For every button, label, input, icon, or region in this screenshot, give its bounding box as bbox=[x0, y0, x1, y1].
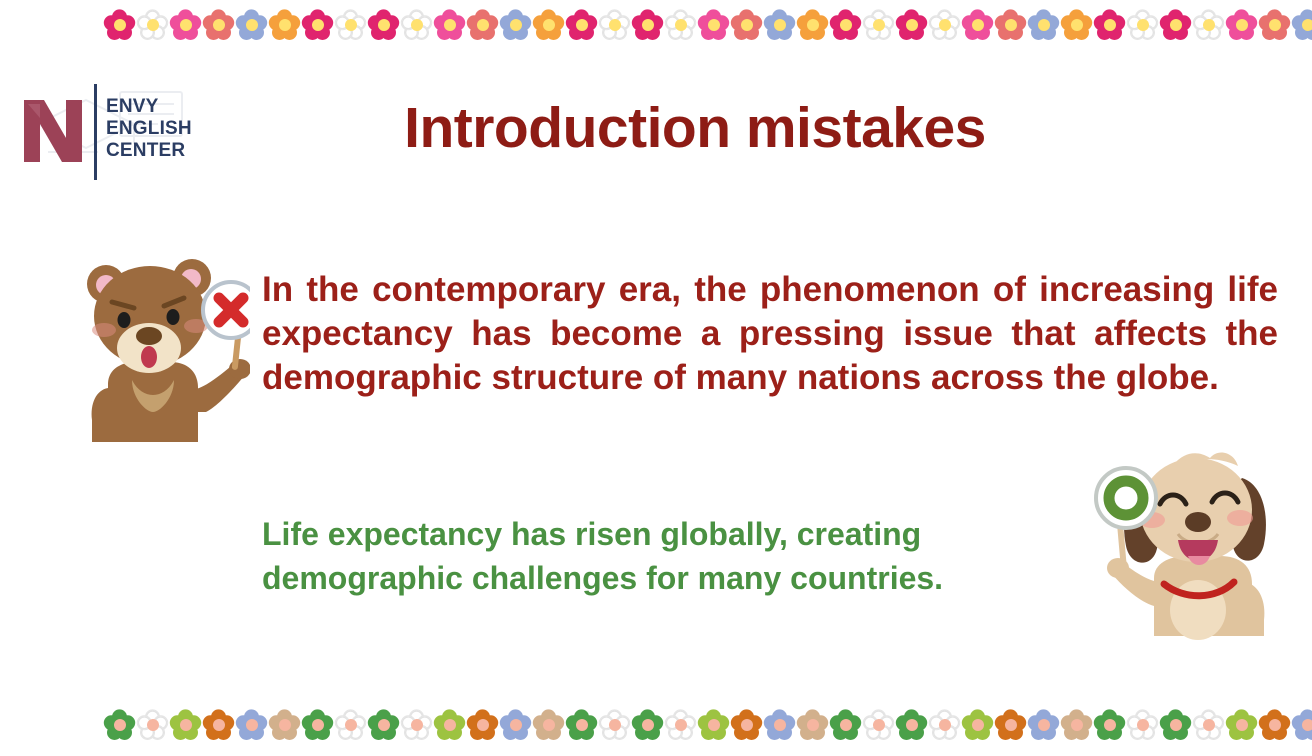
flower-icon bbox=[599, 10, 630, 41]
flower-icon bbox=[797, 710, 828, 741]
flower-center bbox=[180, 719, 192, 731]
flower-center bbox=[774, 19, 786, 31]
flower-icon bbox=[1292, 710, 1312, 741]
flower-center bbox=[1005, 719, 1017, 731]
flower-icon bbox=[302, 710, 333, 741]
logo-envy-english-center: ENVY ENGLISH CENTER bbox=[22, 84, 200, 180]
flower-center bbox=[1302, 19, 1312, 31]
flower-center bbox=[972, 19, 984, 31]
flower-icon bbox=[797, 10, 828, 41]
flower-icon bbox=[104, 710, 135, 741]
flower-icon bbox=[764, 10, 795, 41]
flower-icon bbox=[335, 710, 366, 741]
logo-text: ENVY ENGLISH CENTER bbox=[106, 96, 192, 162]
flower-icon bbox=[104, 10, 135, 41]
flower-center bbox=[477, 719, 489, 731]
flower-center bbox=[939, 719, 951, 731]
flower-icon bbox=[533, 10, 564, 41]
flower-center bbox=[510, 19, 522, 31]
flower-icon bbox=[269, 710, 300, 741]
flower-icon bbox=[632, 10, 663, 41]
flower-center bbox=[213, 19, 225, 31]
flower-icon bbox=[170, 10, 201, 41]
flower-icon bbox=[995, 710, 1026, 741]
flower-center bbox=[906, 719, 918, 731]
flower-icon bbox=[1259, 710, 1290, 741]
flower-center bbox=[378, 719, 390, 731]
flower-center bbox=[1071, 719, 1083, 731]
flower-center bbox=[741, 19, 753, 31]
flower-icon bbox=[1028, 10, 1059, 41]
flower-center bbox=[609, 719, 621, 731]
angry-bear-icon bbox=[74, 252, 250, 448]
flower-icon bbox=[467, 710, 498, 741]
flower-icon bbox=[401, 10, 432, 41]
flower-icon bbox=[1094, 710, 1125, 741]
flower-center bbox=[411, 19, 423, 31]
flower-center bbox=[444, 719, 456, 731]
flower-center bbox=[1302, 719, 1312, 731]
flower-center bbox=[873, 19, 885, 31]
flower-center bbox=[213, 719, 225, 731]
flower-icon bbox=[863, 710, 894, 741]
flower-center bbox=[444, 19, 456, 31]
flower-icon bbox=[1160, 710, 1191, 741]
flower-center bbox=[312, 19, 324, 31]
flower-center bbox=[576, 719, 588, 731]
flower-center bbox=[642, 719, 654, 731]
flower-icon bbox=[137, 710, 168, 741]
flower-center bbox=[543, 719, 555, 731]
flower-center bbox=[675, 19, 687, 31]
flower-icon bbox=[1226, 10, 1257, 41]
flower-center bbox=[1236, 19, 1248, 31]
page-title: Introduction mistakes bbox=[230, 92, 1160, 164]
flower-center bbox=[840, 719, 852, 731]
flower-center bbox=[1104, 719, 1116, 731]
flower-center bbox=[972, 719, 984, 731]
flower-icon bbox=[830, 10, 861, 41]
flower-icon bbox=[566, 10, 597, 41]
flower-center bbox=[312, 719, 324, 731]
flower-center bbox=[774, 719, 786, 731]
flower-icon bbox=[929, 710, 960, 741]
flower-center bbox=[1104, 19, 1116, 31]
flower-icon bbox=[929, 10, 960, 41]
flower-icon bbox=[1226, 710, 1257, 741]
flower-center bbox=[840, 19, 852, 31]
flower-center bbox=[1170, 19, 1182, 31]
logo-text-line-2: ENGLISH bbox=[106, 118, 192, 140]
flower-center bbox=[1038, 19, 1050, 31]
flower-icon bbox=[1061, 10, 1092, 41]
flower-icon bbox=[665, 10, 696, 41]
flower-icon bbox=[962, 710, 993, 741]
good-example-paragraph: Life expectancy has risen globally, crea… bbox=[262, 512, 1092, 600]
flower-icon bbox=[1193, 710, 1224, 741]
flower-icon bbox=[203, 10, 234, 41]
flower-icon bbox=[1292, 10, 1312, 41]
flower-center bbox=[114, 719, 126, 731]
flower-icon bbox=[401, 710, 432, 741]
flower-icon bbox=[632, 710, 663, 741]
flower-center bbox=[1203, 19, 1215, 31]
flower-icon bbox=[500, 710, 531, 741]
flower-center bbox=[1269, 19, 1281, 31]
flower-icon bbox=[1127, 710, 1158, 741]
flower-center bbox=[543, 19, 555, 31]
flower-icon bbox=[269, 10, 300, 41]
flower-icon bbox=[467, 10, 498, 41]
flower-center bbox=[807, 719, 819, 731]
flower-icon bbox=[698, 710, 729, 741]
flower-center bbox=[708, 19, 720, 31]
flower-icon bbox=[236, 710, 267, 741]
flower-icon bbox=[368, 710, 399, 741]
flower-center bbox=[477, 19, 489, 31]
flower-icon bbox=[1127, 10, 1158, 41]
flower-center bbox=[1170, 719, 1182, 731]
flower-center bbox=[873, 719, 885, 731]
flower-border-top bbox=[0, 2, 1312, 48]
flower-center bbox=[147, 719, 159, 731]
flower-center bbox=[147, 19, 159, 31]
flower-icon bbox=[1160, 10, 1191, 41]
flower-icon bbox=[1259, 10, 1290, 41]
logo-divider bbox=[94, 84, 97, 180]
flower-icon bbox=[236, 10, 267, 41]
flower-center bbox=[1269, 719, 1281, 731]
flower-center bbox=[642, 19, 654, 31]
flower-icon bbox=[731, 710, 762, 741]
flower-center bbox=[246, 19, 258, 31]
flower-center bbox=[180, 19, 192, 31]
flower-center bbox=[1137, 719, 1149, 731]
flower-center bbox=[1236, 719, 1248, 731]
logo-letter-n-icon bbox=[22, 98, 84, 164]
flower-center bbox=[246, 719, 258, 731]
flower-icon bbox=[698, 10, 729, 41]
bad-example-paragraph: In the contemporary era, the phenomenon … bbox=[262, 268, 1278, 400]
flower-icon bbox=[599, 710, 630, 741]
flower-center bbox=[576, 19, 588, 31]
flower-icon bbox=[731, 10, 762, 41]
flower-center bbox=[279, 19, 291, 31]
flower-center bbox=[675, 719, 687, 731]
flower-icon bbox=[170, 710, 201, 741]
flower-icon bbox=[665, 710, 696, 741]
flower-icon bbox=[830, 710, 861, 741]
flower-center bbox=[708, 719, 720, 731]
logo-text-line-3: CENTER bbox=[106, 140, 192, 162]
flower-icon bbox=[1193, 10, 1224, 41]
flower-icon bbox=[434, 10, 465, 41]
flower-icon bbox=[896, 710, 927, 741]
flower-icon bbox=[566, 710, 597, 741]
flower-center bbox=[345, 19, 357, 31]
flower-center bbox=[510, 719, 522, 731]
flower-icon bbox=[863, 10, 894, 41]
flower-icon bbox=[137, 10, 168, 41]
flower-icon bbox=[1061, 710, 1092, 741]
flower-icon bbox=[434, 710, 465, 741]
flower-center bbox=[1203, 719, 1215, 731]
happy-dog-icon bbox=[1092, 442, 1282, 640]
flower-center bbox=[906, 19, 918, 31]
flower-center bbox=[1038, 719, 1050, 731]
flower-center bbox=[411, 719, 423, 731]
flower-icon bbox=[1094, 10, 1125, 41]
flower-center bbox=[1071, 19, 1083, 31]
flower-border-bottom bbox=[0, 702, 1312, 748]
slide-canvas: ENVY ENGLISH CENTER Introduction mistake… bbox=[0, 0, 1312, 756]
logo-text-line-1: ENVY bbox=[106, 96, 192, 118]
flower-icon bbox=[368, 10, 399, 41]
flower-icon bbox=[1028, 710, 1059, 741]
flower-center bbox=[279, 719, 291, 731]
flower-center bbox=[1137, 19, 1149, 31]
flower-icon bbox=[500, 10, 531, 41]
flower-center bbox=[741, 719, 753, 731]
flower-icon bbox=[995, 10, 1026, 41]
flower-icon bbox=[896, 10, 927, 41]
flower-icon bbox=[335, 10, 366, 41]
flower-center bbox=[939, 19, 951, 31]
flower-center bbox=[1005, 19, 1017, 31]
flower-center bbox=[609, 19, 621, 31]
flower-center bbox=[807, 19, 819, 31]
flower-center bbox=[345, 719, 357, 731]
flower-center bbox=[378, 19, 390, 31]
flower-icon bbox=[203, 710, 234, 741]
flower-center bbox=[114, 19, 126, 31]
flower-icon bbox=[764, 710, 795, 741]
flower-icon bbox=[302, 10, 333, 41]
flower-icon bbox=[533, 710, 564, 741]
flower-icon bbox=[962, 10, 993, 41]
